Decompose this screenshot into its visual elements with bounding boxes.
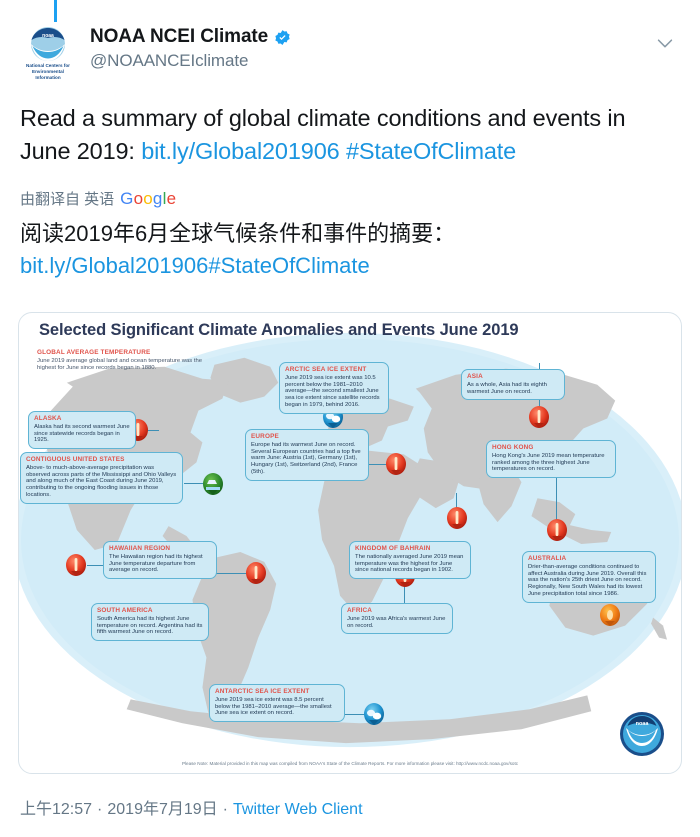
google-logo: Google <box>120 189 176 209</box>
tweet-text: Read a summary of global climate conditi… <box>18 102 682 168</box>
callout-body: Drier-than-average conditions continued … <box>528 564 650 599</box>
callout-title: KINGDOM OF BAHRAIN <box>355 545 465 553</box>
callout-asia[interactable]: ASIA As a whole, Asia had its eighth war… <box>461 369 565 400</box>
callout-africa[interactable]: AFRICA June 2019 was Africa's warmest Ju… <box>341 603 453 634</box>
callout-body: Above- to much-above-average precipitati… <box>26 465 177 500</box>
translated-link[interactable]: bit.ly/Global201906#StateOfClimate <box>20 250 682 282</box>
callout-body: June 2019 sea ice extent was 10.5 percen… <box>285 375 383 410</box>
avatar[interactable]: noaa National Centers for Environmental … <box>20 24 76 80</box>
tweet-date: 2019年7月19日 <box>107 801 217 818</box>
google-letter-o2: o <box>143 189 153 208</box>
callout-hawaiian-region[interactable]: HAWAIIAN REGION The Hawaiian region had … <box>103 541 217 579</box>
tweet-client-link[interactable]: Twitter Web Client <box>233 801 363 818</box>
connector-samerica <box>215 573 247 574</box>
callout-title: SOUTH AMERICA <box>97 607 203 615</box>
callout-hong-kong[interactable]: HONG KONG Hong Kong's June 2019 mean tem… <box>486 440 616 478</box>
google-letter-g2: g <box>153 189 163 208</box>
map-footnote: Please Note: Material provided in this m… <box>19 761 681 766</box>
tweet-header: noaa National Centers for Environmental … <box>18 22 682 80</box>
account-handle[interactable]: @NOAANCEIclimate <box>90 51 291 71</box>
tweet-footer: 上午12:57·2019年7月19日·Twitter Web Client <box>20 795 363 819</box>
footer-separator-1: · <box>97 801 102 818</box>
thermometer-marker-icon-hawaii[interactable] <box>65 553 87 579</box>
translated-from-label: 由翻译自 英语 <box>20 188 114 209</box>
callout-body: June 2019 sea ice extent was 8.5 percent… <box>215 697 339 718</box>
flood-marker-icon-contiguous-us[interactable] <box>202 472 224 498</box>
translated-text-body: 阅读2019年6月全球气候条件和事件的摘要： <box>20 221 455 246</box>
footer-separator-2: · <box>223 801 228 818</box>
callout-title: EUROPE <box>251 433 363 441</box>
thermometer-marker-icon-hongkong[interactable] <box>546 518 568 544</box>
callout-body: Alaska had its second warmest June since… <box>34 424 130 445</box>
callout-kingdom-of-bahrain[interactable]: KINGDOM OF BAHRAIN The nationally averag… <box>349 541 471 579</box>
callout-title: GLOBAL AVERAGE TEMPERATURE <box>37 349 219 357</box>
tweet-link[interactable]: bit.ly/Global201906 <box>141 138 339 164</box>
thermometer-marker-icon-europe[interactable] <box>385 452 407 478</box>
callout-body: June 2019 was Africa's warmest June on r… <box>347 616 447 630</box>
callout-body: Hong Kong's June 2019 mean temperature r… <box>492 453 610 474</box>
google-letter-e: e <box>167 189 177 208</box>
callout-body: The Hawaiian region had its highest June… <box>109 554 211 575</box>
thermometer-marker-icon-bahrain[interactable] <box>446 506 468 532</box>
map-title: Selected Significant Climate Anomalies a… <box>39 321 519 340</box>
callout-title: AFRICA <box>347 607 447 615</box>
callout-alaska[interactable]: ALASKA Alaska had its second warmest Jun… <box>28 411 136 449</box>
ice-marker-icon-antarctic[interactable] <box>363 702 385 728</box>
callout-body: The nationally averaged June 2019 mean t… <box>355 554 465 575</box>
tweet-card: noaa National Centers for Environmental … <box>0 0 700 837</box>
callout-contiguous-united-states[interactable]: CONTIGUOUS UNITED STATES Above- to much-… <box>20 452 183 504</box>
translation-notice: 由翻译自 英语 Google <box>18 188 682 209</box>
callout-australia[interactable]: AUSTRALIA Drier-than-average conditions … <box>522 551 656 603</box>
callout-antarctic-sea-ice-extent[interactable]: ANTARCTIC SEA ICE EXTENT June 2019 sea i… <box>209 684 345 722</box>
thermometer-marker-icon-south-america[interactable] <box>245 561 267 587</box>
google-letter-g1: G <box>120 189 133 208</box>
display-name[interactable]: NOAA NCEI Climate <box>90 26 268 48</box>
callout-title: HAWAIIAN REGION <box>109 545 211 553</box>
callout-title: AUSTRALIA <box>528 555 650 563</box>
callout-title: CONTIGUOUS UNITED STATES <box>26 456 177 464</box>
callout-europe[interactable]: EUROPE Europe had its warmest June on re… <box>245 429 369 481</box>
callout-body: June 2019 average global land and ocean … <box>37 358 219 372</box>
drought-marker-icon-australia[interactable] <box>599 603 621 629</box>
chevron-down-icon[interactable] <box>654 32 676 54</box>
noaa-seal-icon: noaa <box>619 711 665 757</box>
noaa-seal-text: noaa <box>636 721 650 727</box>
callout-title: HONG KONG <box>492 444 610 452</box>
callout-title: ARCTIC SEA ICE EXTENT <box>285 366 383 374</box>
callout-body: As a whole, Asia had its eighth warmest … <box>467 382 559 396</box>
callout-title: ALASKA <box>34 415 130 423</box>
callout-title: ASIA <box>467 373 559 381</box>
thermometer-marker-icon-asia[interactable] <box>528 405 550 431</box>
avatar-caption-line2: Environmental <box>32 69 64 74</box>
verified-badge-icon <box>274 29 291 46</box>
avatar-caption-line1: National Centers for <box>26 63 70 68</box>
callout-global-average-temperature[interactable]: GLOBAL AVERAGE TEMPERATURE June 2019 ave… <box>37 349 219 371</box>
callout-title: ANTARCTIC SEA ICE EXTENT <box>215 688 339 696</box>
google-letter-o1: o <box>134 189 144 208</box>
tweet-time: 上午12:57 <box>20 801 92 818</box>
avatar-caption-line3: Information <box>35 75 60 80</box>
callout-body: South America had its highest June tempe… <box>97 616 203 637</box>
tweet-hashtag[interactable]: #StateOfClimate <box>346 138 516 164</box>
account-names: NOAA NCEI Climate @NOAANCEIclimate <box>90 22 291 71</box>
callout-arctic-sea-ice-extent[interactable]: ARCTIC SEA ICE EXTENT June 2019 sea ice … <box>279 362 389 414</box>
translated-text: 阅读2019年6月全球气候条件和事件的摘要： bit.ly/Global2019… <box>18 218 682 282</box>
callout-body: Europe had its warmest June on record. S… <box>251 442 363 477</box>
callout-south-america[interactable]: SOUTH AMERICA South America had its high… <box>91 603 209 641</box>
svg-text:noaa: noaa <box>42 33 54 39</box>
climate-map-card[interactable]: Selected Significant Climate Anomalies a… <box>18 312 682 774</box>
